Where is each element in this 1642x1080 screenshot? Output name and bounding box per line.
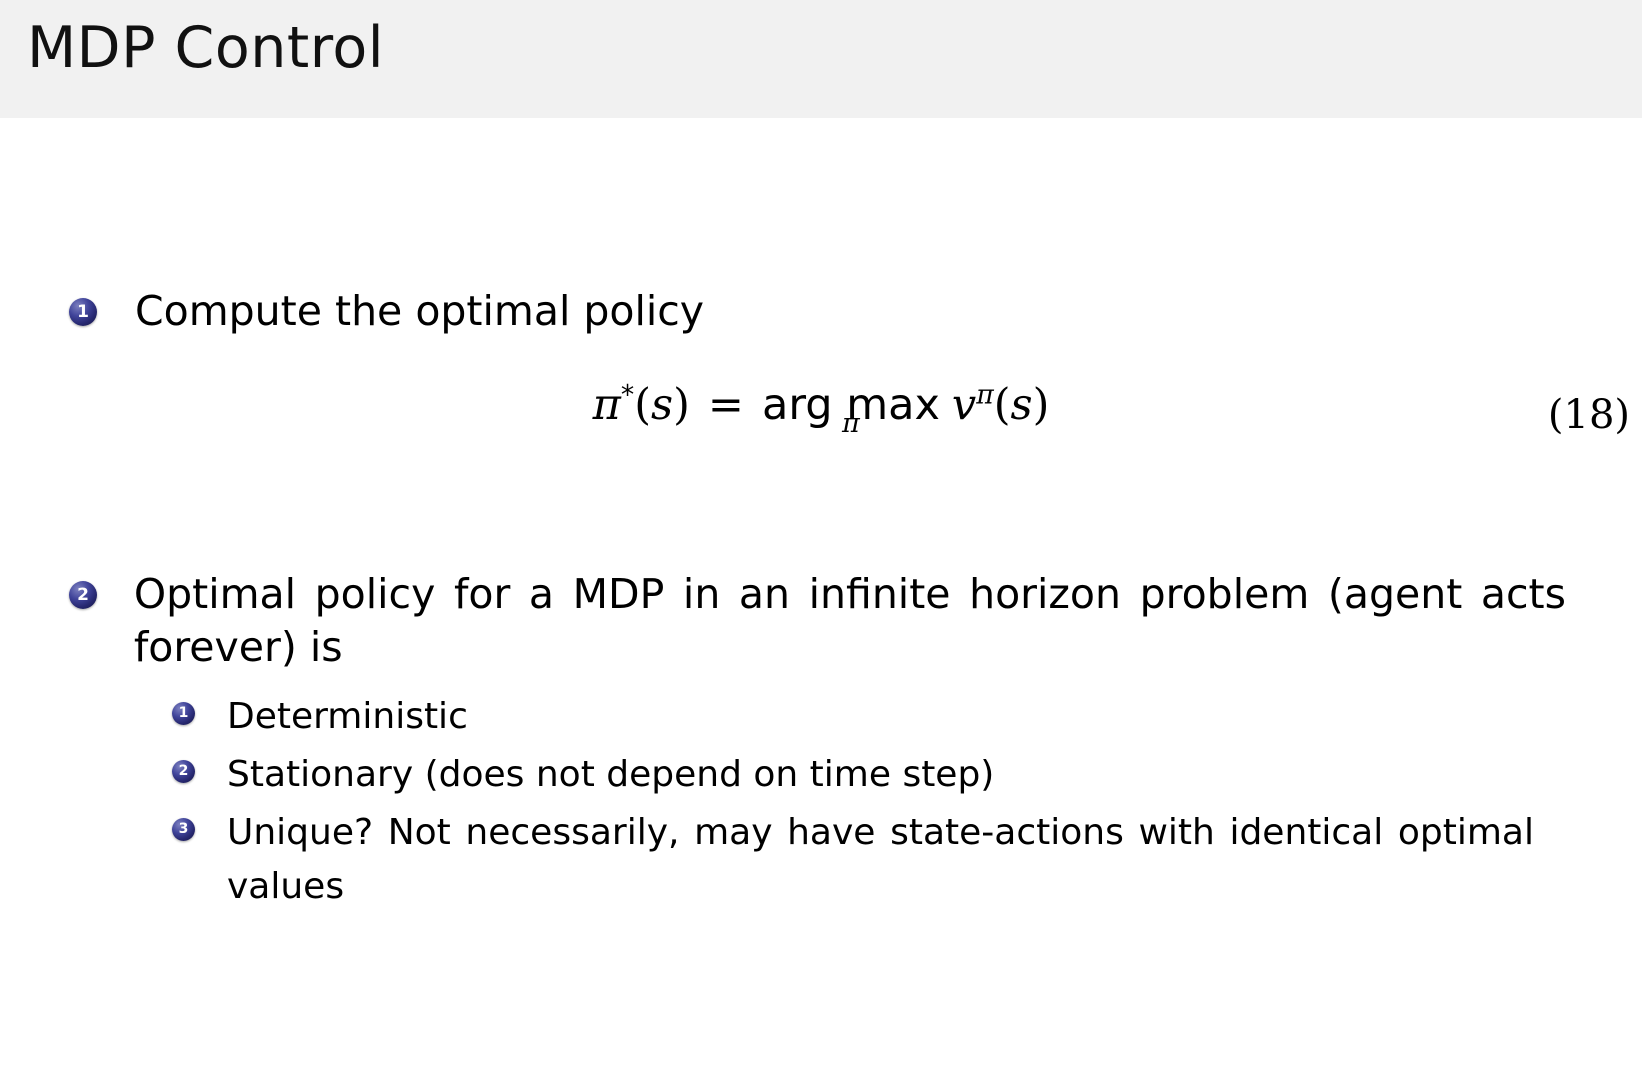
badge-wrap: 2: [172, 748, 227, 783]
list-item-text: Optimal policy for a MDP in an infinite …: [134, 568, 1566, 674]
sub-list-item-3: 3 Unique? Not necessarily, may have stat…: [172, 806, 1572, 914]
list-item-line: forever) is: [134, 621, 1566, 674]
equation-expression: π*(s)=arg maxπvπ(s): [0, 380, 1642, 430]
sub-list-item-line: values: [227, 860, 1534, 914]
equation-lhs-paren-close: ): [673, 380, 690, 430]
list-item-text: Compute the optimal policy: [135, 285, 775, 338]
badge-wrap: 3: [172, 806, 227, 841]
badge-wrap: 2: [66, 568, 134, 609]
sub-list-item-text: Stationary (does not depend on time step…: [227, 748, 994, 802]
list-item-2: 2 Optimal policy for a MDP in an infinit…: [66, 568, 1566, 674]
sub-list-item-2: 2 Stationary (does not depend on time st…: [172, 748, 1572, 802]
slide-content: 1 Compute the optimal policy π*(s)=arg m…: [0, 118, 1642, 1080]
equation-block: π*(s)=arg maxπvπ(s) (18): [0, 380, 1642, 490]
equation-rhs-superscript: π: [976, 380, 994, 411]
enumerate-badge-icon: 2: [172, 760, 195, 783]
equation-operator-group: arg maxπ: [762, 380, 940, 430]
equation-operator-limit: π: [762, 408, 940, 439]
equation-lhs-superscript: *: [621, 380, 634, 411]
sub-list-item-line: Unique? Not necessarily, may have state-…: [227, 806, 1534, 860]
page-title: MDP Control: [27, 20, 384, 77]
sub-list: 1 Deterministic 2 Stationary (does not d…: [172, 690, 1572, 918]
equation-lhs-arg: s: [651, 380, 673, 430]
equation-number: (18): [1548, 392, 1630, 438]
sub-list-item-text: Unique? Not necessarily, may have state-…: [227, 806, 1534, 914]
equation-lhs-symbol: π: [593, 380, 621, 430]
sub-list-item-text: Deterministic: [227, 690, 468, 744]
equation-rhs-paren-open: (: [994, 380, 1011, 430]
enumerate-badge-icon: 2: [69, 581, 97, 609]
enumerate-badge-icon: 1: [69, 298, 97, 326]
sub-list-item-1: 1 Deterministic: [172, 690, 1572, 744]
enumerate-badge-icon: 1: [172, 702, 195, 725]
equation-rhs-symbol: v: [952, 380, 976, 430]
badge-wrap: 1: [172, 690, 227, 725]
enumerate-badge-icon: 3: [172, 818, 195, 841]
list-item-line: Optimal policy for a MDP in an infinite …: [134, 568, 1566, 621]
badge-wrap: 1: [66, 285, 135, 326]
list-item-1: 1 Compute the optimal policy: [66, 285, 1566, 338]
slide-header: MDP Control: [0, 0, 1642, 118]
equation-lhs-paren-open: (: [634, 380, 651, 430]
equation-rhs-arg: s: [1011, 380, 1033, 430]
equation-relation: =: [708, 380, 744, 430]
equation-rhs-paren-close: ): [1033, 380, 1050, 430]
